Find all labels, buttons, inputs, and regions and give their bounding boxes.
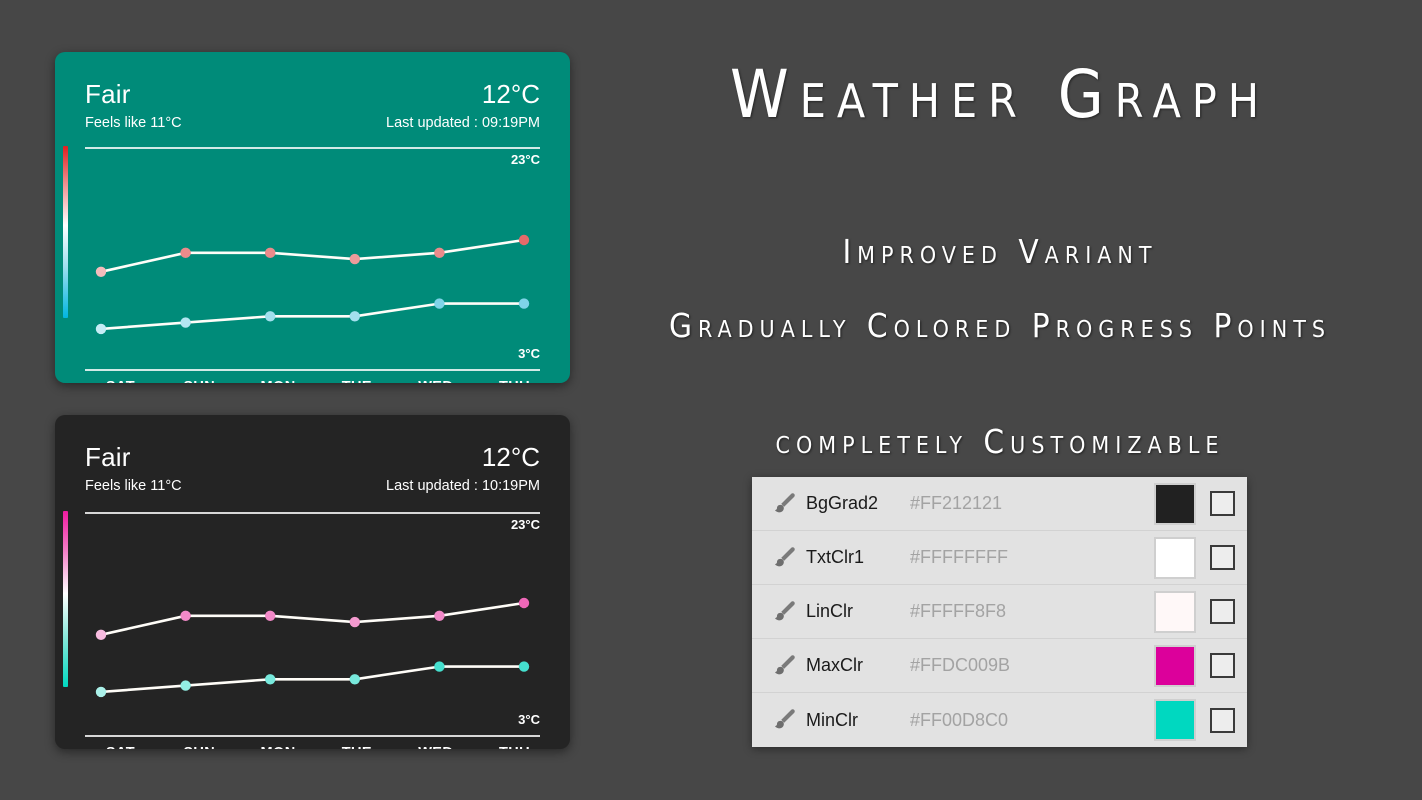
page-title: Weather Graph (600, 56, 1400, 133)
day-name: THU (475, 745, 554, 749)
max-point-tue (350, 254, 360, 264)
max-point-wed (434, 248, 444, 258)
max-point-sat (96, 267, 106, 277)
last-updated-text: Last updated : 10:19PM (386, 478, 540, 494)
current-temperature: 12°C (482, 442, 540, 473)
feels-like-text: Feels like 11°C (85, 478, 182, 494)
forecast-day[interactable]: THU 20°C / 10°C (475, 379, 554, 383)
min-temp-line (101, 667, 524, 692)
widget-header-teal: Fair 12°C Feels like 11°C Last updated :… (85, 79, 540, 137)
max-temp-line (101, 240, 524, 272)
max-point-sun (180, 248, 190, 258)
max-temp-line (101, 603, 524, 635)
min-point-mon (265, 311, 275, 321)
color-swatch[interactable] (1154, 591, 1196, 633)
min-point-thu (519, 298, 529, 308)
color-checkbox[interactable] (1210, 491, 1235, 516)
color-key-label: MaxClr (806, 655, 898, 676)
color-row[interactable]: LinClr #FFFFF8F8 (752, 585, 1247, 639)
color-checkbox[interactable] (1210, 653, 1235, 678)
max-point-mon (265, 611, 275, 621)
max-point-wed (434, 611, 444, 621)
color-key-label: TxtClr1 (806, 547, 898, 568)
day-name: THU (475, 379, 554, 383)
day-name: SAT (81, 379, 160, 383)
paintbrush-icon (770, 544, 798, 572)
weather-widget-dark[interactable]: Fair 12°C Feels like 11°C Last updated :… (55, 415, 570, 749)
color-checkbox[interactable] (1210, 708, 1235, 733)
forecast-day-strip: SAT 15°C / 6°C SUN 18°C / 7°C MON 18°C /… (81, 745, 554, 749)
last-updated-text: Last updated : 09:19PM (386, 115, 540, 131)
color-row[interactable]: TxtClr1 #FFFFFFFF (752, 531, 1247, 585)
max-point-sat (96, 630, 106, 640)
temperature-gradient-bar (63, 511, 68, 687)
forecast-day[interactable]: SAT 15°C / 6°C (81, 379, 160, 383)
day-name: SUN (160, 745, 239, 749)
forecast-line-chart (85, 148, 540, 370)
color-row[interactable]: MaxClr #FFDC009B (752, 639, 1247, 693)
max-point-thu (519, 235, 529, 245)
color-row[interactable]: BgGrad2 #FF212121 (752, 477, 1247, 531)
color-checkbox[interactable] (1210, 599, 1235, 624)
paintbrush-icon (770, 598, 798, 626)
max-point-sun (180, 611, 190, 621)
min-point-sat (96, 687, 106, 697)
condition-text: Fair (85, 79, 131, 110)
color-swatch[interactable] (1154, 699, 1196, 741)
temperature-gradient-bar (63, 146, 68, 318)
forecast-day[interactable]: SUN 18°C / 7°C (160, 745, 239, 749)
paintbrush-icon (770, 652, 798, 680)
max-point-mon (265, 248, 275, 258)
divider-bottom (85, 369, 540, 371)
color-swatch[interactable] (1154, 645, 1196, 687)
max-point-tue (350, 617, 360, 627)
min-point-thu (519, 661, 529, 671)
min-point-tue (350, 674, 360, 684)
forecast-day[interactable]: MON 18°C / 8°C (239, 745, 318, 749)
forecast-day[interactable]: SUN 18°C / 7°C (160, 379, 239, 383)
max-point-thu (519, 598, 529, 608)
paintbrush-icon (770, 706, 798, 734)
day-name: TUE (317, 379, 396, 383)
forecast-day[interactable]: WED 18°C / 10°C (396, 745, 475, 749)
forecast-line-chart (85, 511, 540, 733)
day-name: MON (239, 379, 318, 383)
paintbrush-icon (770, 490, 798, 518)
day-name: TUE (317, 745, 396, 749)
forecast-day[interactable]: MON 18°C / 8°C (239, 379, 318, 383)
min-temp-line (101, 304, 524, 329)
tagline-2: Gradually Colored Progress Points (600, 303, 1400, 349)
widget-header-dark: Fair 12°C Feels like 11°C Last updated :… (85, 442, 540, 500)
color-row[interactable]: MinClr #FF00D8C0 (752, 693, 1247, 747)
color-hex-value: #FF212121 (910, 493, 1154, 514)
forecast-day[interactable]: WED 18°C / 10°C (396, 379, 475, 383)
day-name: WED (396, 379, 475, 383)
promo-stage: Fair 12°C Feels like 11°C Last updated :… (0, 0, 1422, 800)
color-hex-value: #FFDC009B (910, 655, 1154, 676)
color-hex-value: #FF00D8C0 (910, 710, 1154, 731)
min-point-sun (180, 680, 190, 690)
feels-like-text: Feels like 11°C (85, 115, 182, 131)
min-point-wed (434, 661, 444, 671)
color-swatch[interactable] (1154, 537, 1196, 579)
color-key-label: BgGrad2 (806, 493, 898, 514)
weather-widget-teal[interactable]: Fair 12°C Feels like 11°C Last updated :… (55, 52, 570, 383)
day-name: WED (396, 745, 475, 749)
color-hex-value: #FFFFFFFF (910, 547, 1154, 568)
tagline-1: Improved Variant (600, 232, 1400, 271)
forecast-day[interactable]: THU 20°C / 10°C (475, 745, 554, 749)
forecast-day[interactable]: TUE 17°C / 8°C (317, 379, 396, 383)
color-swatch[interactable] (1154, 483, 1196, 525)
min-point-sat (96, 324, 106, 334)
min-point-wed (434, 298, 444, 308)
forecast-day-strip: SAT 15°C / 6°C SUN 18°C / 7°C MON 18°C /… (81, 379, 554, 383)
color-hex-value: #FFFFF8F8 (910, 601, 1154, 622)
color-settings-panel[interactable]: BgGrad2 #FF212121 TxtClr1 #FFFFFFFF LinC… (752, 477, 1247, 747)
color-checkbox[interactable] (1210, 545, 1235, 570)
tagline-3: completely Customizable (600, 422, 1400, 461)
min-point-sun (180, 317, 190, 327)
current-temperature: 12°C (482, 79, 540, 110)
forecast-day[interactable]: SAT 15°C / 6°C (81, 745, 160, 749)
day-name: SUN (160, 379, 239, 383)
min-point-tue (350, 311, 360, 321)
condition-text: Fair (85, 442, 131, 473)
forecast-day[interactable]: TUE 17°C / 8°C (317, 745, 396, 749)
day-name: MON (239, 745, 318, 749)
min-point-mon (265, 674, 275, 684)
color-key-label: LinClr (806, 601, 898, 622)
day-name: SAT (81, 745, 160, 749)
color-key-label: MinClr (806, 710, 898, 731)
divider-bottom (85, 735, 540, 737)
